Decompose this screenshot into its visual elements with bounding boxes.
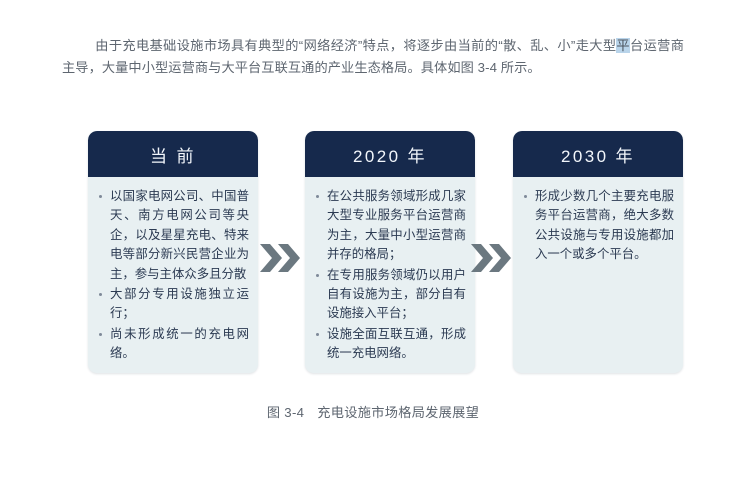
list-item: 尚未形成统一的充电网络。 bbox=[110, 325, 249, 364]
stage-card-header-current: 当 前 bbox=[88, 131, 258, 177]
list-item: 大部分专用设施独立运行； bbox=[110, 285, 249, 324]
market-landscape-flow-diagram: 当 前 以国家电网公司、中国普天、南方电网公司等央企，以及星星充电、特来电等部分… bbox=[0, 131, 746, 375]
list-item: 在专用服务领域仍以用户自有设施为主，部分自有设施接入平台； bbox=[327, 266, 466, 324]
double-chevron-right-icon bbox=[469, 241, 515, 275]
stage-card-header-2030: 2030 年 bbox=[513, 131, 683, 177]
list-item: 在公共服务领域形成几家大型专业服务平台运营商为主，大量中小型运营商并存的格局； bbox=[327, 187, 466, 265]
selected-text-highlight[interactable]: 平 bbox=[616, 38, 630, 53]
stage-card-current[interactable]: 当 前 以国家电网公司、中国普天、南方电网公司等央企，以及星星充电、特来电等部分… bbox=[88, 131, 258, 373]
list-item: 设施全面互联互通，形成统一充电网络。 bbox=[327, 325, 466, 364]
stage-bullet-list-2030: 形成少数几个主要充电服务平台运营商，绝大多数公共设施与专用设施都加入一个或多个平… bbox=[519, 187, 674, 265]
double-chevron-right-icon bbox=[258, 241, 304, 275]
stage-bullet-list-current: 以国家电网公司、中国普天、南方电网公司等央企，以及星星充电、特来电等部分新兴民营… bbox=[94, 187, 249, 364]
stage-body-2020: 在公共服务领域形成几家大型专业服务平台运营商为主，大量中小型运营商并存的格局； … bbox=[305, 177, 475, 355]
figure-number: 图 3-4 bbox=[267, 405, 304, 420]
stage-title-2020: 2020 年 bbox=[353, 142, 427, 167]
stage-body-current: 以国家电网公司、中国普天、南方电网公司等央企，以及星星充电、特来电等部分新兴民营… bbox=[88, 177, 258, 355]
stage-card-2020[interactable]: 2020 年 在公共服务领域形成几家大型专业服务平台运营商为主，大量中小型运营商… bbox=[305, 131, 475, 373]
stage-bullet-list-2020: 在公共服务领域形成几家大型专业服务平台运营商为主，大量中小型运营商并存的格局； … bbox=[311, 187, 466, 364]
list-item: 形成少数几个主要充电服务平台运营商，绝大多数公共设施与专用设施都加入一个或多个平… bbox=[535, 187, 674, 265]
document-page: 由于充电基础设施市场具有典型的“网络经济”特点，将逐步由当前的“散、乱、小”走大… bbox=[0, 0, 746, 483]
intro-paragraph: 由于充电基础设施市场具有典型的“网络经济”特点，将逐步由当前的“散、乱、小”走大… bbox=[62, 35, 684, 79]
stage-title-2030: 2030 年 bbox=[561, 142, 635, 167]
stage-body-2030: 形成少数几个主要充电服务平台运营商，绝大多数公共设施与专用设施都加入一个或多个平… bbox=[513, 177, 683, 355]
figure-title: 充电设施市场格局发展展望 bbox=[317, 405, 479, 420]
stage-card-2030[interactable]: 2030 年 形成少数几个主要充电服务平台运营商，绝大多数公共设施与专用设施都加… bbox=[513, 131, 683, 373]
figure-caption: 图 3-4充电设施市场格局发展展望 bbox=[0, 402, 746, 421]
paragraph-text-before-selection: 由于充电基础设施市场具有典型的“网络经济”特点，将逐步由当前的“散、乱、小”走大… bbox=[95, 38, 616, 53]
list-item: 以国家电网公司、中国普天、南方电网公司等央企，以及星星充电、特来电等部分新兴民营… bbox=[110, 187, 249, 284]
stage-card-header-2020: 2020 年 bbox=[305, 131, 475, 177]
stage-title-current: 当 前 bbox=[150, 142, 196, 167]
